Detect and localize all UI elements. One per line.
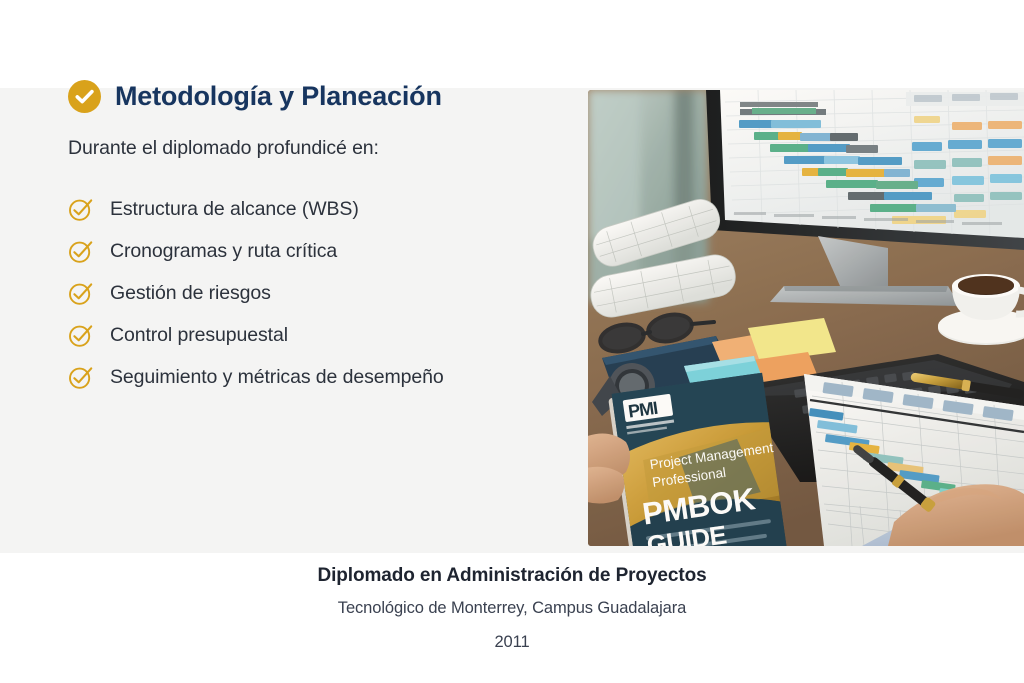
list-item: Control presupuestal <box>68 314 568 356</box>
section-heading: Metodología y Planeación <box>68 80 568 113</box>
list-item-label: Gestión de riesgos <box>110 282 271 305</box>
list-item: Seguimiento y métricas de desempeño <box>68 356 568 398</box>
slide-footer: Diplomado en Administración de Proyectos… <box>0 563 1024 653</box>
check-circle-outline-icon <box>68 281 93 306</box>
list-item-label: Seguimiento y métricas de desempeño <box>110 366 444 389</box>
page-title: Metodología y Planeación <box>115 82 442 112</box>
check-circle-outline-icon <box>68 197 93 222</box>
project-management-desk-photo: PMI Project Management Professional PMBO… <box>588 90 1024 546</box>
bullet-list: Estructura de alcance (WBS) Cronogramas … <box>68 188 568 398</box>
check-circle-outline-icon <box>68 323 93 348</box>
list-item: Gestión de riesgos <box>68 272 568 314</box>
footer-year: 2011 <box>0 631 1024 653</box>
list-item-label: Cronogramas y ruta crítica <box>110 240 337 263</box>
section-subtitle: Durante el diplomado profundicé en: <box>68 136 568 161</box>
footer-institution: Tecnológico de Monterrey, Campus Guadala… <box>0 597 1024 619</box>
check-circle-outline-icon <box>68 239 93 264</box>
footer-program-title: Diplomado en Administración de Proyectos <box>0 563 1024 589</box>
list-item-label: Estructura de alcance (WBS) <box>110 198 359 221</box>
check-circle-filled-icon <box>68 80 101 113</box>
section-content: Metodología y Planeación Durante el dipl… <box>68 80 568 398</box>
list-item: Estructura de alcance (WBS) <box>68 188 568 230</box>
check-circle-outline-icon <box>68 365 93 390</box>
list-item: Cronogramas y ruta crítica <box>68 230 568 272</box>
slide: Metodología y Planeación Durante el dipl… <box>0 0 1024 683</box>
list-item-label: Control presupuestal <box>110 324 288 347</box>
